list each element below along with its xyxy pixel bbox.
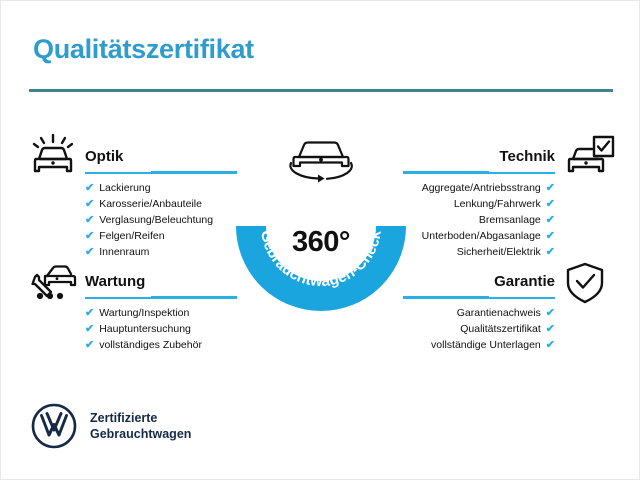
check-icon: ✔ bbox=[546, 305, 555, 321]
section-technik: Technik Aggregate/Antriebsstrang✔ Lenkun… bbox=[403, 147, 555, 260]
list-item-label: Wartung/Inspektion bbox=[99, 305, 189, 321]
list-item: ✔Wartung/Inspektion bbox=[85, 305, 237, 321]
list-item: ✔Verglasung/Beleuchtung bbox=[85, 212, 237, 228]
list-item-label: Sicherheit/Elektrik bbox=[457, 244, 541, 260]
list-item-label: Karosserie/Anbauteile bbox=[99, 196, 202, 212]
section-wartung-header: Wartung bbox=[85, 272, 237, 298]
list-item-label: Lackierung bbox=[99, 180, 150, 196]
section-wartung-items: ✔Wartung/Inspektion ✔Hauptuntersuchung ✔… bbox=[85, 305, 237, 353]
hub-degrees-label: 360° bbox=[232, 226, 410, 259]
list-item-label: Garantienachweis bbox=[457, 305, 541, 321]
check-icon: ✔ bbox=[546, 180, 555, 196]
list-item: vollständige Unterlagen✔ bbox=[403, 337, 555, 353]
list-item: Unterboden/Abgasanlage✔ bbox=[403, 228, 555, 244]
quality-certificate-page: Qualitätszertifikat bbox=[0, 0, 640, 480]
check-icon: ✔ bbox=[546, 228, 555, 244]
list-item: Bremsanlage✔ bbox=[403, 212, 555, 228]
list-item-label: vollständige Unterlagen bbox=[431, 337, 541, 353]
section-wartung: Wartung ✔Wartung/Inspektion ✔Hauptunters… bbox=[85, 272, 237, 353]
list-item-label: Innenraum bbox=[99, 244, 149, 260]
section-technik-title: Technik bbox=[403, 147, 555, 167]
check-icon: ✔ bbox=[546, 212, 555, 228]
list-item-label: Qualitätszertifikat bbox=[460, 321, 541, 337]
check-icon: ✔ bbox=[546, 244, 555, 260]
vw-logo-icon bbox=[31, 403, 77, 449]
list-item-label: Bremsanlage bbox=[479, 212, 541, 228]
check-icon: ✔ bbox=[85, 180, 94, 196]
list-item: Qualitätszertifikat✔ bbox=[403, 321, 555, 337]
check-icon: ✔ bbox=[85, 305, 94, 321]
car-checkbox-icon bbox=[567, 133, 615, 177]
list-item-label: Lenkung/Fahrwerk bbox=[454, 196, 541, 212]
brand-lockup: Zertifizierte Gebrauchtwagen bbox=[31, 403, 191, 449]
list-item-label: Hauptuntersuchung bbox=[99, 321, 191, 337]
section-optik-items: ✔Lackierung ✔Karosserie/Anbauteile ✔Verg… bbox=[85, 180, 237, 260]
list-item: ✔Hauptuntersuchung bbox=[85, 321, 237, 337]
list-item-label: Felgen/Reifen bbox=[99, 228, 164, 244]
list-item: ✔Felgen/Reifen bbox=[85, 228, 237, 244]
section-technik-header: Technik bbox=[403, 147, 555, 173]
section-garantie: Garantie Garantienachweis✔ Qualitätszert… bbox=[403, 272, 555, 353]
brand-line-2: Gebrauchtwagen bbox=[90, 426, 191, 442]
section-garantie-title: Garantie bbox=[403, 272, 555, 292]
page-title: Qualitätszertifikat bbox=[33, 34, 254, 65]
list-item: Garantienachweis✔ bbox=[403, 305, 555, 321]
check-icon: ✔ bbox=[85, 196, 94, 212]
check-icon: ✔ bbox=[546, 337, 555, 353]
section-garantie-divider bbox=[403, 297, 555, 299]
section-wartung-title: Wartung bbox=[85, 272, 237, 292]
brand-text: Zertifizierte Gebrauchtwagen bbox=[90, 410, 191, 442]
check-icon: ✔ bbox=[85, 228, 94, 244]
section-optik-divider bbox=[85, 172, 237, 174]
section-technik-items: Aggregate/Antriebsstrang✔ Lenkung/Fahrwe… bbox=[403, 180, 555, 260]
check-icon: ✔ bbox=[546, 196, 555, 212]
section-optik-title: Optik bbox=[85, 147, 237, 167]
section-garantie-items: Garantienachweis✔ Qualitätszertifikat✔ v… bbox=[403, 305, 555, 353]
list-item: Aggregate/Antriebsstrang✔ bbox=[403, 180, 555, 196]
brand-line-1: Zertifizierte bbox=[90, 410, 191, 426]
section-optik: Optik ✔Lackierung ✔Karosserie/Anbauteile… bbox=[85, 147, 237, 260]
list-item-label: Aggregate/Antriebsstrang bbox=[422, 180, 541, 196]
list-item-label: Verglasung/Beleuchtung bbox=[99, 212, 213, 228]
section-technik-divider bbox=[403, 172, 555, 174]
list-item: ✔vollständiges Zubehör bbox=[85, 337, 237, 353]
check-icon: ✔ bbox=[85, 337, 94, 353]
list-item: Lenkung/Fahrwerk✔ bbox=[403, 196, 555, 212]
car-wrench-service-icon bbox=[29, 259, 77, 303]
section-optik-header: Optik bbox=[85, 147, 237, 173]
check-icon: ✔ bbox=[85, 212, 94, 228]
list-item: ✔Lackierung bbox=[85, 180, 237, 196]
list-item-label: Unterboden/Abgasanlage bbox=[422, 228, 541, 244]
360-check-hub: Gebrauchtwagen-Check 360° bbox=[232, 119, 410, 311]
list-item: Sicherheit/Elektrik✔ bbox=[403, 244, 555, 260]
car-shine-icon bbox=[29, 133, 77, 177]
shield-check-icon bbox=[561, 261, 609, 305]
check-icon: ✔ bbox=[546, 321, 555, 337]
list-item-label: vollständiges Zubehör bbox=[99, 337, 202, 353]
section-wartung-divider bbox=[85, 297, 237, 299]
title-divider bbox=[29, 89, 613, 92]
section-garantie-header: Garantie bbox=[403, 272, 555, 298]
list-item: ✔Karosserie/Anbauteile bbox=[85, 196, 237, 212]
check-icon: ✔ bbox=[85, 321, 94, 337]
list-item: ✔Innenraum bbox=[85, 244, 237, 260]
check-icon: ✔ bbox=[85, 244, 94, 260]
